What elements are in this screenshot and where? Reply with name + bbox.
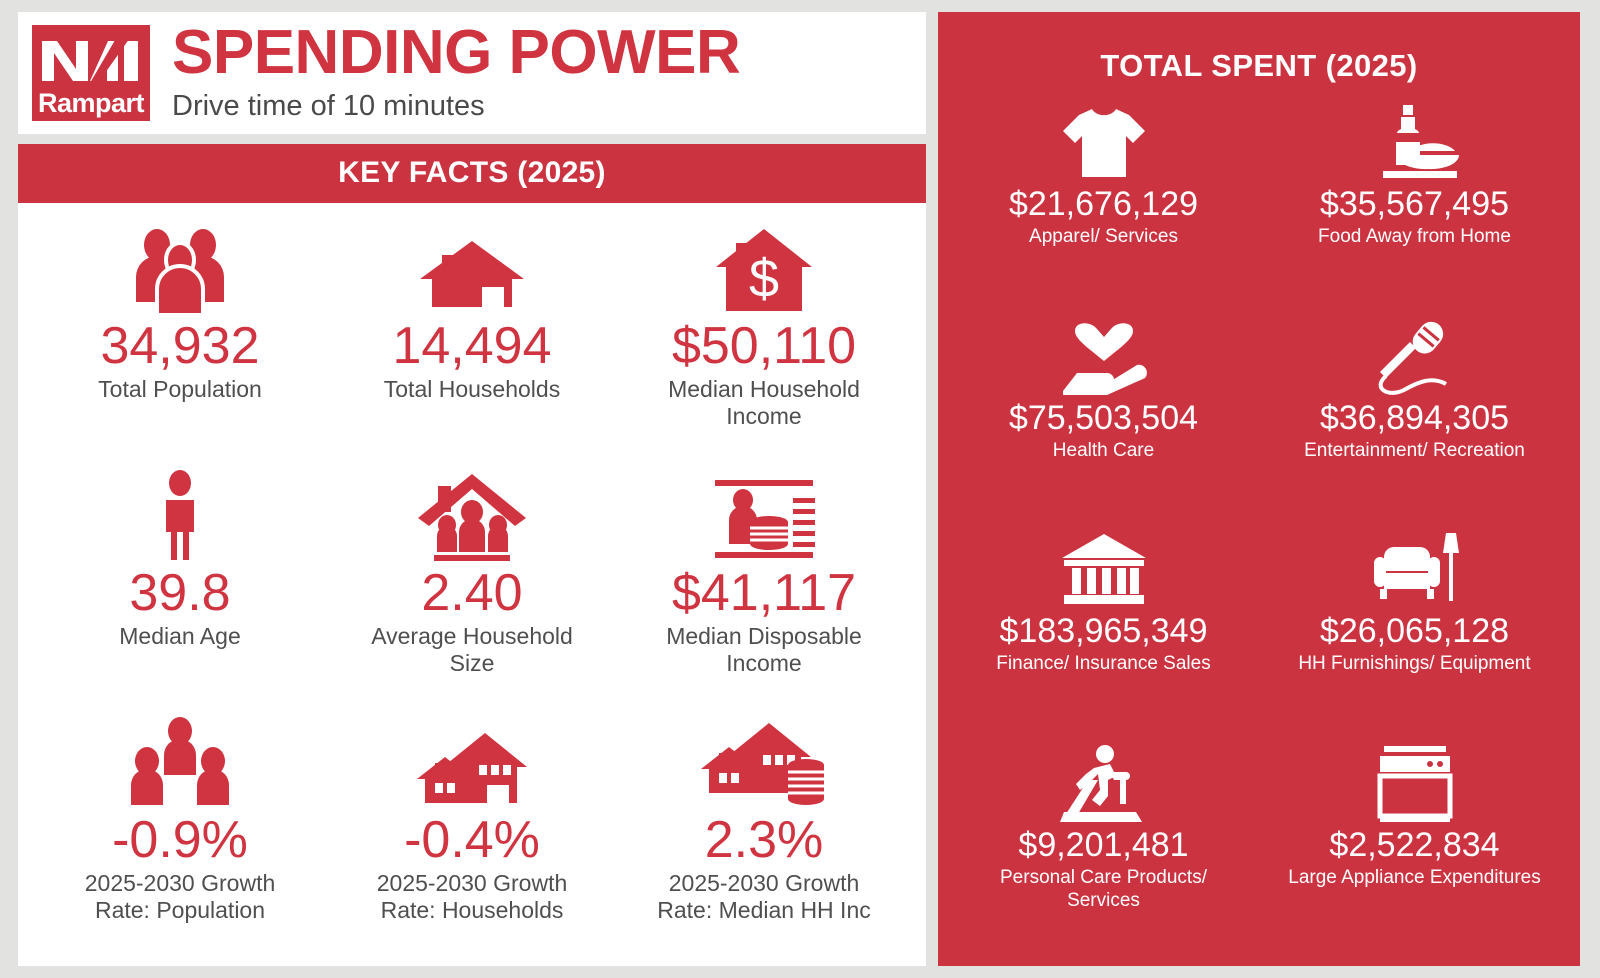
treadmill-icon bbox=[1058, 743, 1150, 825]
fact-label: Median Household Income bbox=[639, 376, 889, 430]
spent-label: HH Furnishings/ Equipment bbox=[1298, 653, 1530, 676]
fact-label: Average Household Size bbox=[347, 623, 597, 677]
spent-label: Personal Care Products/ Services bbox=[969, 867, 1239, 913]
spent-value: $36,894,305 bbox=[1320, 400, 1509, 437]
house-coins-icon bbox=[699, 717, 829, 809]
key-facts-card: KEY FACTS (2025) 34,932 bbox=[18, 144, 926, 966]
spent-label: Large Appliance Expenditures bbox=[1288, 867, 1540, 890]
bank-icon bbox=[1060, 529, 1148, 611]
header-title-wrap: SPENDING POWER Drive time of 10 minutes bbox=[172, 22, 740, 124]
spent-value: $183,965,349 bbox=[1000, 613, 1208, 650]
nai-rampart-logo: Rampart bbox=[32, 25, 150, 121]
spent-hh-furnishings-equipment: $26,065,128 HH Furnishings/ Equipment bbox=[1259, 529, 1570, 743]
fact-label: Total Population bbox=[98, 376, 262, 403]
fact-label: Median Disposable Income bbox=[639, 623, 889, 677]
fact-median-age: 39.8 Median Age bbox=[34, 456, 326, 703]
fact-label: 2025-2030 Growth Rate: Households bbox=[347, 870, 597, 924]
fact-average-household-size: 2.40 Average Household Size bbox=[326, 456, 618, 703]
spent-label: Entertainment/ Recreation bbox=[1304, 440, 1525, 463]
total-spent-card: TOTAL SPENT (2025) $21,676,129 Apparel/ … bbox=[938, 12, 1580, 966]
svg-text:$: $ bbox=[749, 249, 779, 309]
fact-value: $50,110 bbox=[672, 319, 856, 374]
spent-value: $75,503,504 bbox=[1009, 400, 1198, 437]
total-spent-grid: $21,676,129 Apparel/ Services $35,567,49… bbox=[948, 102, 1570, 956]
fact-label: Total Households bbox=[384, 376, 560, 403]
fact-value: -0.9% bbox=[112, 813, 248, 868]
logo-rampart-text: Rampart bbox=[32, 90, 150, 117]
fact-value: 34,932 bbox=[100, 319, 259, 374]
spent-health-care: $75,503,504 Health Care bbox=[948, 316, 1259, 530]
armchair-lamp-icon bbox=[1370, 529, 1460, 611]
spent-value: $9,201,481 bbox=[1018, 827, 1188, 864]
spent-food-away-from-home: $35,567,495 Food Away from Home bbox=[1259, 102, 1570, 316]
spent-label: Health Care bbox=[1053, 440, 1154, 463]
fact-value: 2.3% bbox=[705, 813, 824, 868]
fact-median-disposable-income: $41,117 Median Disposable Income bbox=[618, 456, 910, 703]
spent-value: $35,567,495 bbox=[1320, 186, 1509, 223]
fact-label: Median Age bbox=[119, 623, 240, 650]
people-group-icon bbox=[125, 717, 235, 809]
house-family-icon bbox=[414, 470, 530, 562]
nai-logo-mark bbox=[32, 31, 150, 87]
fact-growth-households: -0.4% 2025-2030 Growth Rate: Households bbox=[326, 703, 618, 950]
spent-value: $21,676,129 bbox=[1009, 186, 1198, 223]
spent-personal-care: $9,201,481 Personal Care Products/ Servi… bbox=[948, 743, 1259, 957]
fact-value: $41,117 bbox=[672, 566, 856, 621]
heart-hand-icon bbox=[1059, 316, 1149, 398]
spent-large-appliance: $2,522,834 Large Appliance Expenditures bbox=[1259, 743, 1570, 957]
fact-total-households: 14,494 Total Households bbox=[326, 209, 618, 456]
fact-growth-median-hh-income: 2.3% 2025-2030 Growth Rate: Median HH In… bbox=[618, 703, 910, 950]
fact-value: 39.8 bbox=[129, 566, 230, 621]
spent-label: Apparel/ Services bbox=[1029, 226, 1178, 249]
fact-label: 2025-2030 Growth Rate: Population bbox=[55, 870, 305, 924]
fact-value: 14,494 bbox=[392, 319, 551, 374]
spent-value: $26,065,128 bbox=[1320, 613, 1509, 650]
fact-median-household-income: $ $50,110 Median Household Income bbox=[618, 209, 910, 456]
spent-label: Finance/ Insurance Sales bbox=[996, 653, 1210, 676]
spent-apparel-services: $21,676,129 Apparel/ Services bbox=[948, 102, 1259, 316]
fact-label: 2025-2030 Growth Rate: Median HH Inc bbox=[639, 870, 889, 924]
key-facts-banner: KEY FACTS (2025) bbox=[18, 144, 926, 203]
person-coins-chart-icon bbox=[705, 470, 823, 562]
microphone-icon bbox=[1370, 316, 1460, 398]
page-subtitle: Drive time of 10 minutes bbox=[172, 88, 740, 124]
house-icon bbox=[416, 223, 528, 315]
page-title: SPENDING POWER bbox=[172, 22, 740, 84]
stove-icon bbox=[1376, 743, 1454, 825]
spent-finance-insurance-sales: $183,965,349 Finance/ Insurance Sales bbox=[948, 529, 1259, 743]
tshirt-icon bbox=[1061, 102, 1147, 184]
fact-total-population: 34,932 Total Population bbox=[34, 209, 326, 456]
key-facts-grid: 34,932 Total Population 14,494 Total Hou… bbox=[18, 203, 926, 966]
header-card: Rampart SPENDING POWER Drive time of 10 … bbox=[18, 12, 926, 134]
spent-entertainment-recreation: $36,894,305 Entertainment/ Recreation bbox=[1259, 316, 1570, 530]
wine-bowl-icon bbox=[1369, 102, 1461, 184]
fact-value: -0.4% bbox=[404, 813, 540, 868]
infographic-page: Rampart SPENDING POWER Drive time of 10 … bbox=[0, 0, 1600, 978]
house-windows-icon bbox=[413, 717, 531, 809]
spent-label: Food Away from Home bbox=[1318, 226, 1511, 249]
fact-growth-population: -0.9% 2025-2030 Growth Rate: Population bbox=[34, 703, 326, 950]
single-person-icon bbox=[150, 470, 210, 562]
three-people-icon bbox=[124, 223, 236, 315]
total-spent-banner: TOTAL SPENT (2025) bbox=[948, 18, 1570, 102]
house-dollar-icon: $ bbox=[712, 223, 816, 315]
left-column: Rampart SPENDING POWER Drive time of 10 … bbox=[18, 12, 926, 966]
fact-value: 2.40 bbox=[421, 566, 522, 621]
spent-value: $2,522,834 bbox=[1329, 827, 1499, 864]
